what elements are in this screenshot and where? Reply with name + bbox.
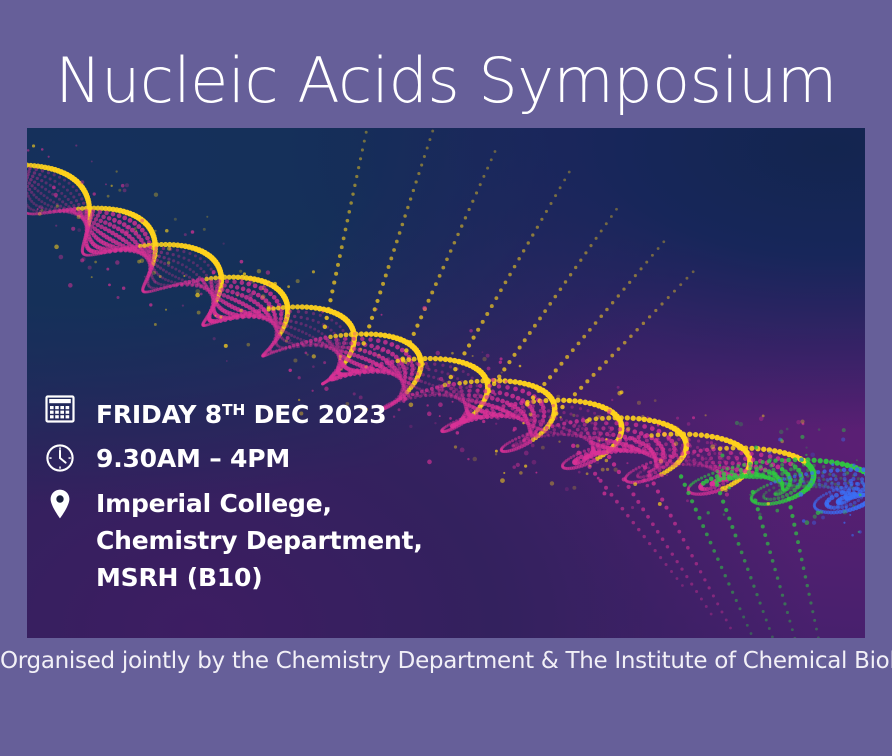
detail-date-ordinal: TH [222,401,245,419]
detail-date-text: FRIDAY 8TH DEC 2023 [96,392,386,433]
detail-row-date: FRIDAY 8TH DEC 2023 [45,392,465,433]
detail-venue-text: Imperial College, Chemistry Department, … [96,485,423,596]
footer-credit: Organised jointly by the Chemistry Depar… [0,646,892,676]
calendar-icon [45,392,77,426]
detail-row-venue: Imperial College, Chemistry Department, … [45,485,465,596]
location-pin-icon [45,487,77,521]
detail-date-suffix: DEC 2023 [245,400,386,429]
clock-icon [45,441,77,475]
poster-canvas: Nucleic Acids Symposium [0,0,892,756]
detail-date-prefix: FRIDAY 8 [96,400,222,429]
page-title: Nucleic Acids Symposium [0,46,892,116]
detail-row-time: 9.30AM – 4PM [45,441,465,477]
event-details-block: FRIDAY 8TH DEC 2023 9.30AM – 4PM [45,392,465,596]
detail-time-text: 9.30AM – 4PM [96,441,290,477]
